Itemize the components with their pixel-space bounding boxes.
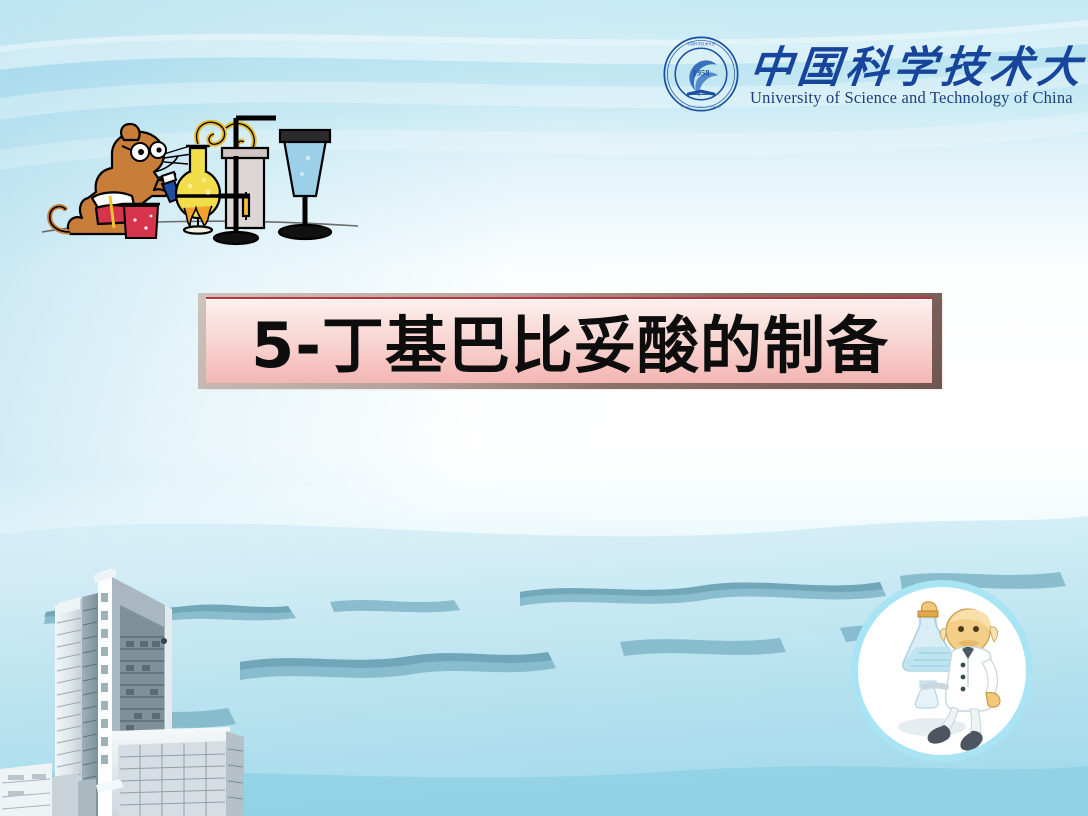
scientist-illustration — [858, 587, 1026, 755]
logo-chinese-name: 中国科学技术大学 — [747, 33, 1088, 95]
campus-building-illustration — [0, 531, 290, 816]
logo-english-name: University of Science and Technology of … — [750, 88, 1073, 108]
presentation-slide: 1958 中国科学技术大学 University of Science and … — [0, 0, 1088, 816]
svg-text:1958: 1958 — [692, 68, 709, 78]
slide-title-banner: 5-丁基巴比妥酸的制备 — [198, 293, 942, 389]
page-title: 5-丁基巴比妥酸的制备 — [198, 293, 942, 389]
svg-text:中国科学技术大学: 中国科学技术大学 — [687, 41, 716, 46]
scientist-circle-frame — [851, 580, 1033, 762]
svg-text:University of Science and Tech: University of Science and Technology — [681, 106, 722, 109]
lab-illustration — [40, 92, 360, 252]
ustc-logo: 1958 中国科学技术大学 University of Science and … — [662, 33, 1036, 121]
ustc-seal-icon: 1958 中国科学技术大学 University of Science and … — [662, 35, 740, 113]
